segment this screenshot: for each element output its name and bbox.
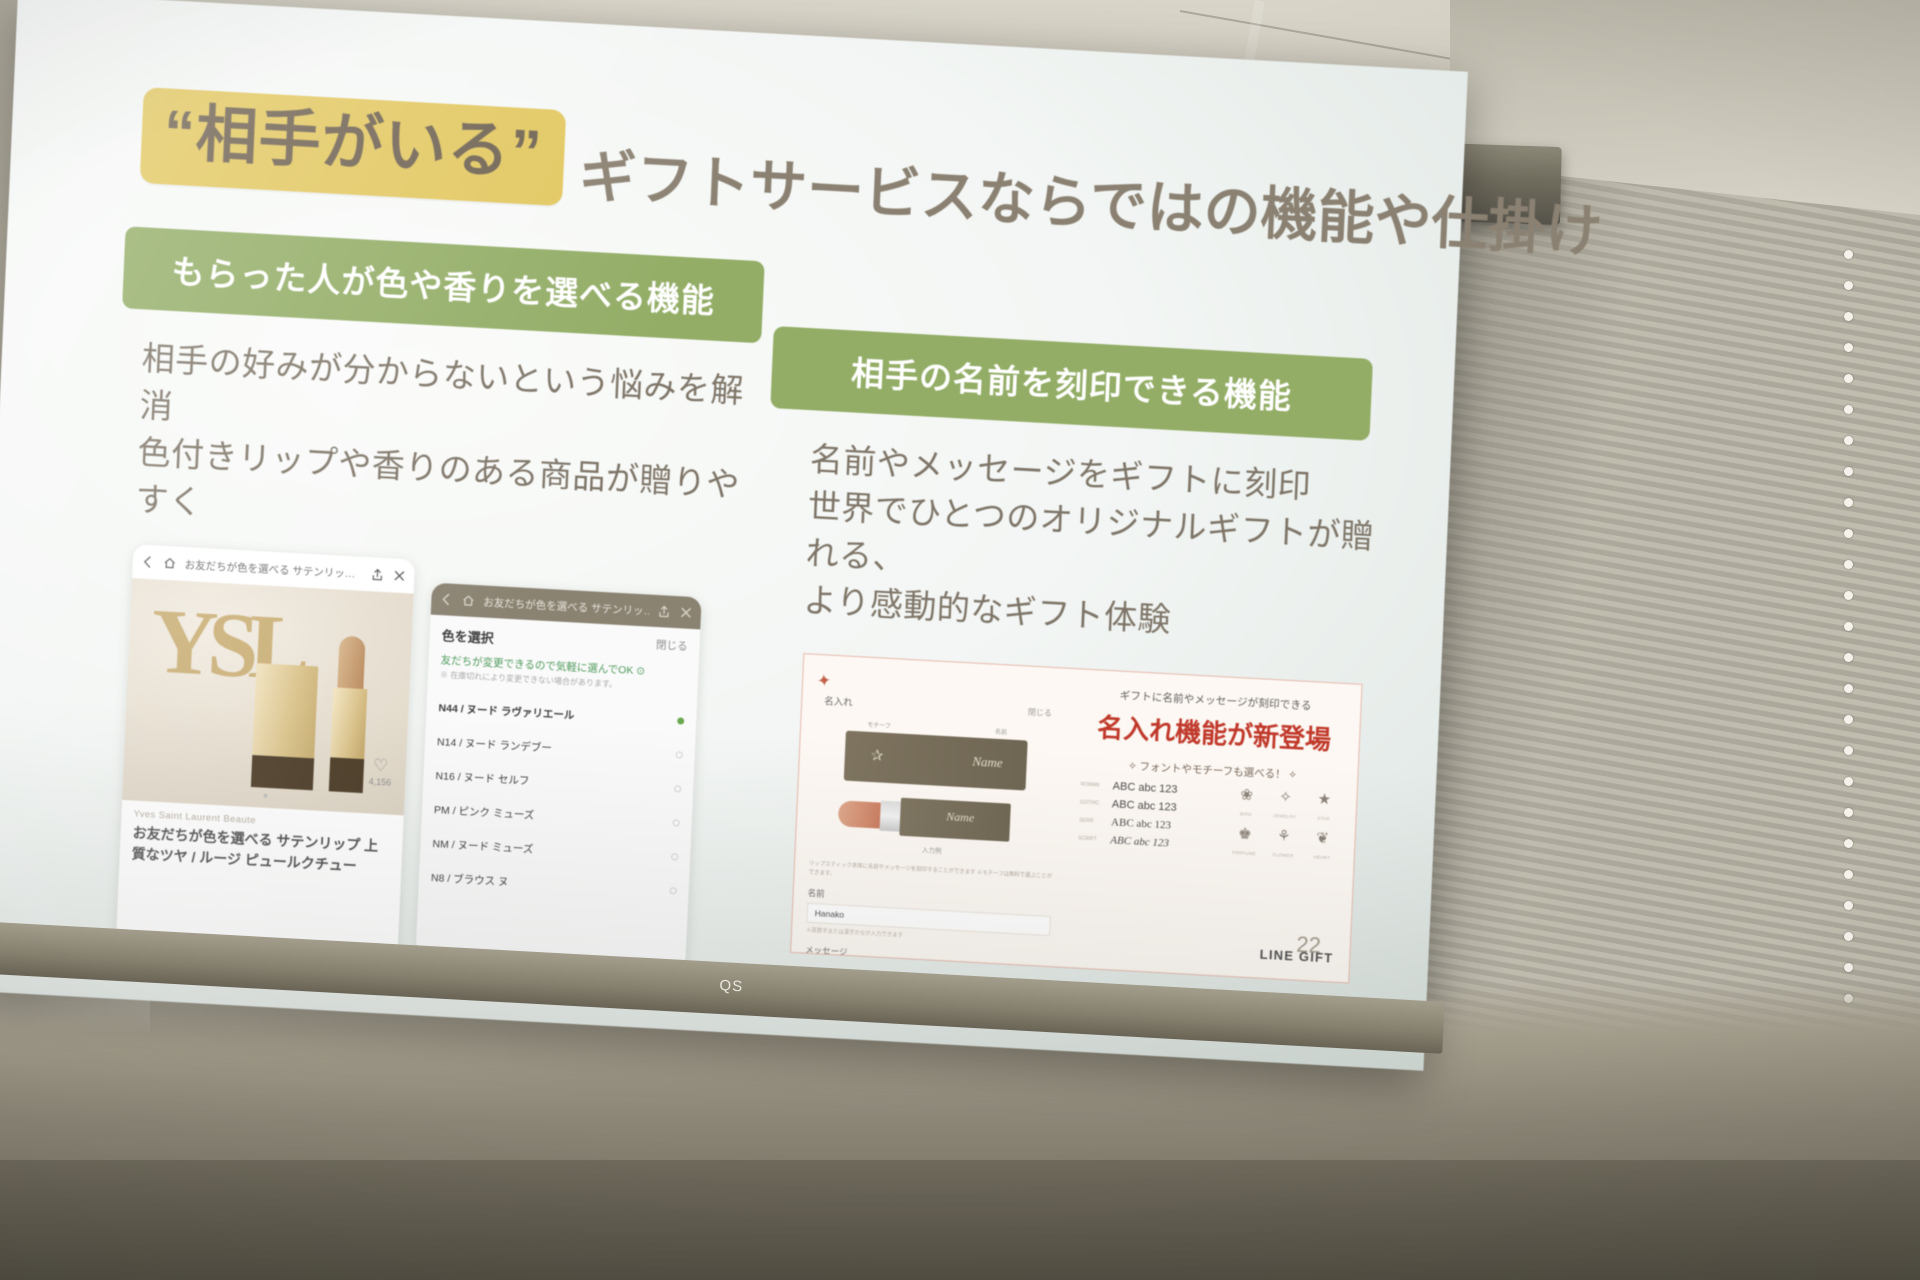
column-header-left: もらった人が色や香りを選べる機能: [122, 226, 765, 343]
phone-nav-title: お友だちが色を選べる サテンリッ…: [184, 557, 362, 582]
motif-item[interactable]: ♚ PERFUME: [1226, 826, 1263, 861]
blind-cord-dots: [1844, 250, 1860, 1010]
screen-brand-logo: QS: [719, 977, 743, 995]
label-name: 名前: [995, 727, 1007, 737]
promo-close-label[interactable]: 閉じる: [1028, 706, 1052, 718]
color-select-heading-row: 閉じる 色を選択: [441, 626, 687, 658]
engraved-plate-preview: ✰ Name: [844, 731, 1028, 791]
column-header-right: 相手の名前を刻印できる機能: [770, 326, 1373, 441]
selected-indicator-icon: [677, 717, 684, 724]
lipstick-product: [329, 636, 370, 794]
close-icon[interactable]: [679, 606, 694, 621]
label-motif: モチーフ: [867, 720, 891, 730]
motif-item[interactable]: ★ STAR: [1305, 791, 1342, 826]
product-hero-image: YSL ♡ 4,156: [122, 579, 413, 816]
motif-flower-icon: ⚘: [1266, 828, 1303, 845]
column-lead-left: 相手の好みが分からないという悩みを解消 色付きリップや香りのある商品が贈りやすく: [113, 334, 760, 556]
font-tag: SCRIPT: [1078, 836, 1104, 843]
column-engraving: 相手の名前を刻印できる機能 名前やメッセージをギフトに刻印 世界でひとつのオリジ…: [746, 326, 1413, 986]
motif-name: PERFUME: [1232, 850, 1256, 856]
column-lead-right: 名前やメッセージをギフトに刻印 世界でひとつのオリジナルギフトが贈れる、 より感…: [761, 434, 1408, 656]
motif-name: FLOWER: [1272, 852, 1293, 858]
carousel-dot: [263, 794, 267, 798]
font-samples: ROMAN ABC abc 123 GOTHIC ABC abc 123 SER…: [1078, 779, 1223, 859]
lipstick-box: [251, 664, 318, 791]
engraved-name: Name: [972, 754, 1003, 772]
message-field-label: メッセージ: [805, 944, 1049, 969]
promo-left-title: 名入れ: [824, 694, 853, 710]
title-highlight-chip: “相手がいる”: [140, 87, 567, 206]
engraving-promo-card: ✦ 名入れ 閉じる モチーフ 名前 ✰ Name: [790, 654, 1363, 984]
color-select-heading: 色を選択: [441, 629, 494, 647]
motif-item[interactable]: ✧ JEWELRY: [1266, 789, 1303, 824]
unselected-indicator-icon: [671, 853, 678, 860]
font-sample-row[interactable]: SERIF ABC abc 123: [1079, 815, 1222, 835]
color-option-label: N14 / ヌード ランデブー: [437, 734, 552, 755]
motif-star-icon: ✰: [870, 746, 883, 765]
color-option-label: N8 / ブラウス ヌ: [431, 870, 509, 889]
color-option-label: NM / ヌード ミューズ: [432, 836, 534, 857]
like-count: 4,156: [368, 776, 391, 787]
promo-left-header: 名入れ 閉じる: [816, 693, 1060, 720]
color-option-label: N44 / ヌード ラヴァリエール: [438, 700, 574, 722]
motif-samples: ❀ BIRD ✧ JEWELRY ★ STAR: [1226, 787, 1343, 865]
slide-title: “相手がいる” ギフトサービスならではの機能や仕掛け: [140, 87, 1422, 253]
color-option-label: PM / ピンク ミューズ: [434, 802, 535, 823]
back-chevron-icon[interactable]: [439, 592, 454, 607]
phone-nav-title-b: お友だちが色を選べる サテンリッ…: [483, 594, 649, 618]
font-sample: ABC abc 123: [1111, 817, 1171, 832]
sparkle-icon: ✦: [816, 671, 832, 692]
engraved-name-2: Name: [946, 810, 975, 827]
close-label[interactable]: 閉じる: [656, 637, 688, 654]
home-icon[interactable]: [461, 594, 476, 609]
font-tag: ROMAN: [1081, 782, 1107, 789]
promo-headline: 名入れ機能が新登場: [1083, 707, 1346, 758]
motif-name: JEWELRY: [1273, 814, 1296, 820]
back-chevron-icon[interactable]: [140, 555, 155, 570]
promo-fineprint: リップスティック本体に名前やメッセージを刻印することができます ※モチーフは無料…: [808, 860, 1052, 890]
desk-front: [0, 1160, 1920, 1280]
font-and-motif-grid: ROMAN ABC abc 123 GOTHIC ABC abc 123 SER…: [1078, 779, 1343, 865]
motif-star-icon: ★: [1306, 791, 1343, 808]
promo-left-panel: ✦ 名入れ 閉じる モチーフ 名前 ✰ Name: [791, 655, 1074, 968]
slide-content: “相手がいる” ギフトサービスならではの機能や仕掛け もらった人が色や香りを選べ…: [0, 0, 1468, 1001]
font-sample-row[interactable]: ROMAN ABC abc 123: [1081, 779, 1224, 799]
motif-item[interactable]: ❀ BIRD: [1228, 787, 1265, 822]
font-sample-row[interactable]: SCRIPT ABC abc 123: [1078, 833, 1221, 853]
motif-bird-icon: ❀: [1228, 787, 1265, 804]
projector-screen-assembly: “相手がいる” ギフトサービスならではの機能や仕掛け もらった人が色や香りを選べ…: [0, 0, 1516, 1083]
share-icon[interactable]: [370, 568, 385, 583]
engraved-lipstick-preview: Name: [837, 795, 1029, 845]
column-color-select: もらった人が色や香りを選べる機能 相手の好みが分からないという悩みを解消 色付き…: [94, 226, 765, 978]
motif-name: HEART: [1313, 854, 1330, 860]
motif-item[interactable]: ❦ HEART: [1304, 830, 1341, 865]
phone-color-select: お友だちが色を選べる サテンリッ… 閉じる: [416, 583, 702, 969]
font-sample: ABC abc 123: [1112, 799, 1177, 815]
unselected-indicator-icon: [673, 819, 680, 826]
unselected-indicator-icon: [670, 887, 677, 894]
screenshot-root: “相手がいる” ギフトサービスならではの機能や仕掛け もらった人が色や香りを選べ…: [0, 0, 1920, 1280]
phone-product-page: お友だちが色を選べる サテンリッ… YSL: [116, 545, 415, 960]
motif-item[interactable]: ⚘ FLOWER: [1265, 828, 1302, 863]
unselected-indicator-icon: [676, 751, 683, 758]
title-rest-text: ギフトサービスならではの機能や仕掛け: [578, 130, 1604, 268]
page-number: 22: [1296, 932, 1322, 959]
font-sample-row[interactable]: GOTHIC ABC abc 123: [1080, 797, 1223, 817]
projection-screen: “相手がいる” ギフトサービスならではの機能や仕掛け もらった人が色や香りを選べ…: [0, 0, 1468, 1071]
heart-icon[interactable]: ♡: [369, 754, 392, 777]
unselected-indicator-icon: [674, 785, 681, 792]
font-sample: ABC abc 123: [1110, 835, 1169, 850]
phone-mockups-left: お友だちが色を選べる サテンリッ… YSL: [116, 545, 753, 979]
motif-name: BIRD: [1240, 812, 1252, 818]
motif-heart-icon: ❦: [1304, 830, 1341, 847]
color-option-label: N16 / ヌード セルフ: [435, 768, 529, 788]
motif-perfume-icon: ♚: [1227, 826, 1264, 843]
motif-jewelry-icon: ✧: [1267, 789, 1304, 806]
share-icon[interactable]: [657, 604, 672, 619]
home-icon[interactable]: [162, 556, 177, 571]
color-select-panel: 閉じる 色を選択 友だちが変更できるので気軽に選んでOK ⊙ ※ 在庫切れにより…: [416, 615, 701, 970]
like-counter[interactable]: ♡ 4,156: [368, 754, 392, 789]
close-icon[interactable]: [392, 569, 407, 584]
font-tag: SERIF: [1079, 818, 1105, 825]
font-sample: ABC abc 123: [1112, 781, 1177, 797]
motif-name: STAR: [1317, 816, 1330, 822]
font-tag: GOTHIC: [1080, 800, 1106, 807]
